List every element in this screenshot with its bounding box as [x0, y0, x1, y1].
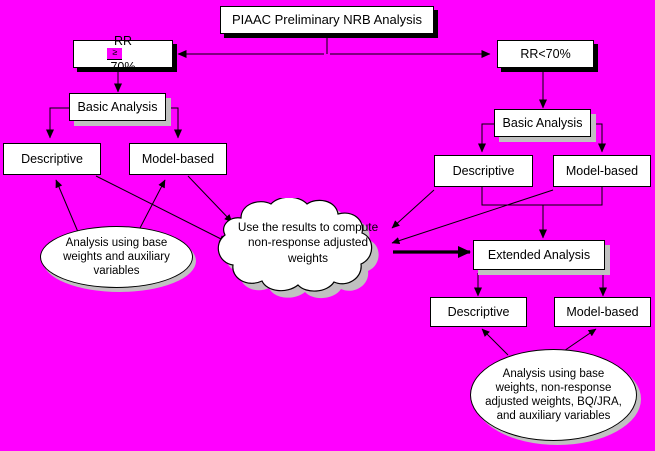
- extended-analysis[interactable]: Extended Analysis: [473, 240, 605, 270]
- condition-box-rr-low[interactable]: RR<70%: [497, 40, 594, 68]
- note-ellipse-high: Analysis using base weights and auxiliar…: [40, 226, 193, 288]
- cloud-shape: Use the results to compute non-response …: [205, 198, 410, 306]
- descriptive-low-label: Descriptive: [450, 164, 518, 178]
- model-based-high-label: Model-based: [139, 152, 217, 166]
- basic-analysis-high-label: Basic Analysis: [75, 100, 161, 114]
- cloud-line-1: Use the results to compute: [219, 220, 397, 235]
- descriptive-low[interactable]: Descriptive: [434, 155, 533, 187]
- ge-symbol-glyph: ≥: [107, 48, 122, 60]
- basic-analysis-low[interactable]: Basic Analysis: [494, 109, 591, 137]
- extended-analysis-label: Extended Analysis: [485, 248, 593, 262]
- cloud-text: Use the results to compute non-response …: [219, 220, 397, 266]
- basic-analysis-low-label: Basic Analysis: [500, 116, 586, 130]
- condition-rr-high-label: RR ≥ 70%: [104, 34, 141, 74]
- condition-rr-low-label: RR<70%: [517, 47, 573, 61]
- title-box: PIAAC Preliminary NRB Analysis: [220, 6, 434, 34]
- connector-modelbased-r-to-cloud: [392, 190, 553, 243]
- cloud-line-2: non-response adjusted: [219, 235, 397, 250]
- model-based-low[interactable]: Model-based: [553, 155, 651, 187]
- diagram-canvas: PIAAC Preliminary NRB Analysis RR ≥ 70% …: [0, 0, 655, 451]
- cloud-line-3: weights: [219, 251, 397, 266]
- connector-merge-to-extended: [482, 187, 602, 205]
- connector-basic-to-modelbased-r: [591, 124, 602, 152]
- basic-analysis-high[interactable]: Basic Analysis: [69, 93, 166, 121]
- extended-descriptive[interactable]: Descriptive: [430, 297, 527, 327]
- note-low-label: Analysis using base weights, non-respons…: [481, 367, 627, 423]
- note-ellipse-low: Analysis using base weights, non-respons…: [470, 349, 637, 441]
- model-based-low-label: Model-based: [563, 164, 641, 178]
- connector-basic-to-modelbased-l: [166, 108, 178, 138]
- condition-box-rr-high[interactable]: RR ≥ 70%: [73, 40, 173, 68]
- connector-note-l-to-descriptive: [56, 180, 78, 232]
- title-label: PIAAC Preliminary NRB Analysis: [229, 13, 425, 28]
- connector-note-r-to-descriptive: [482, 329, 508, 355]
- extended-descriptive-label: Descriptive: [445, 305, 513, 319]
- model-based-high[interactable]: Model-based: [129, 143, 227, 175]
- connector-note-l-to-modelbased: [140, 180, 165, 228]
- descriptive-high[interactable]: Descriptive: [3, 143, 101, 175]
- descriptive-high-label: Descriptive: [18, 152, 86, 166]
- note-high-label: Analysis using base weights and auxiliar…: [53, 236, 181, 278]
- extended-model-based-label: Model-based: [563, 305, 641, 319]
- connector-basic-to-descriptive-l: [50, 108, 70, 138]
- extended-model-based[interactable]: Model-based: [554, 297, 651, 327]
